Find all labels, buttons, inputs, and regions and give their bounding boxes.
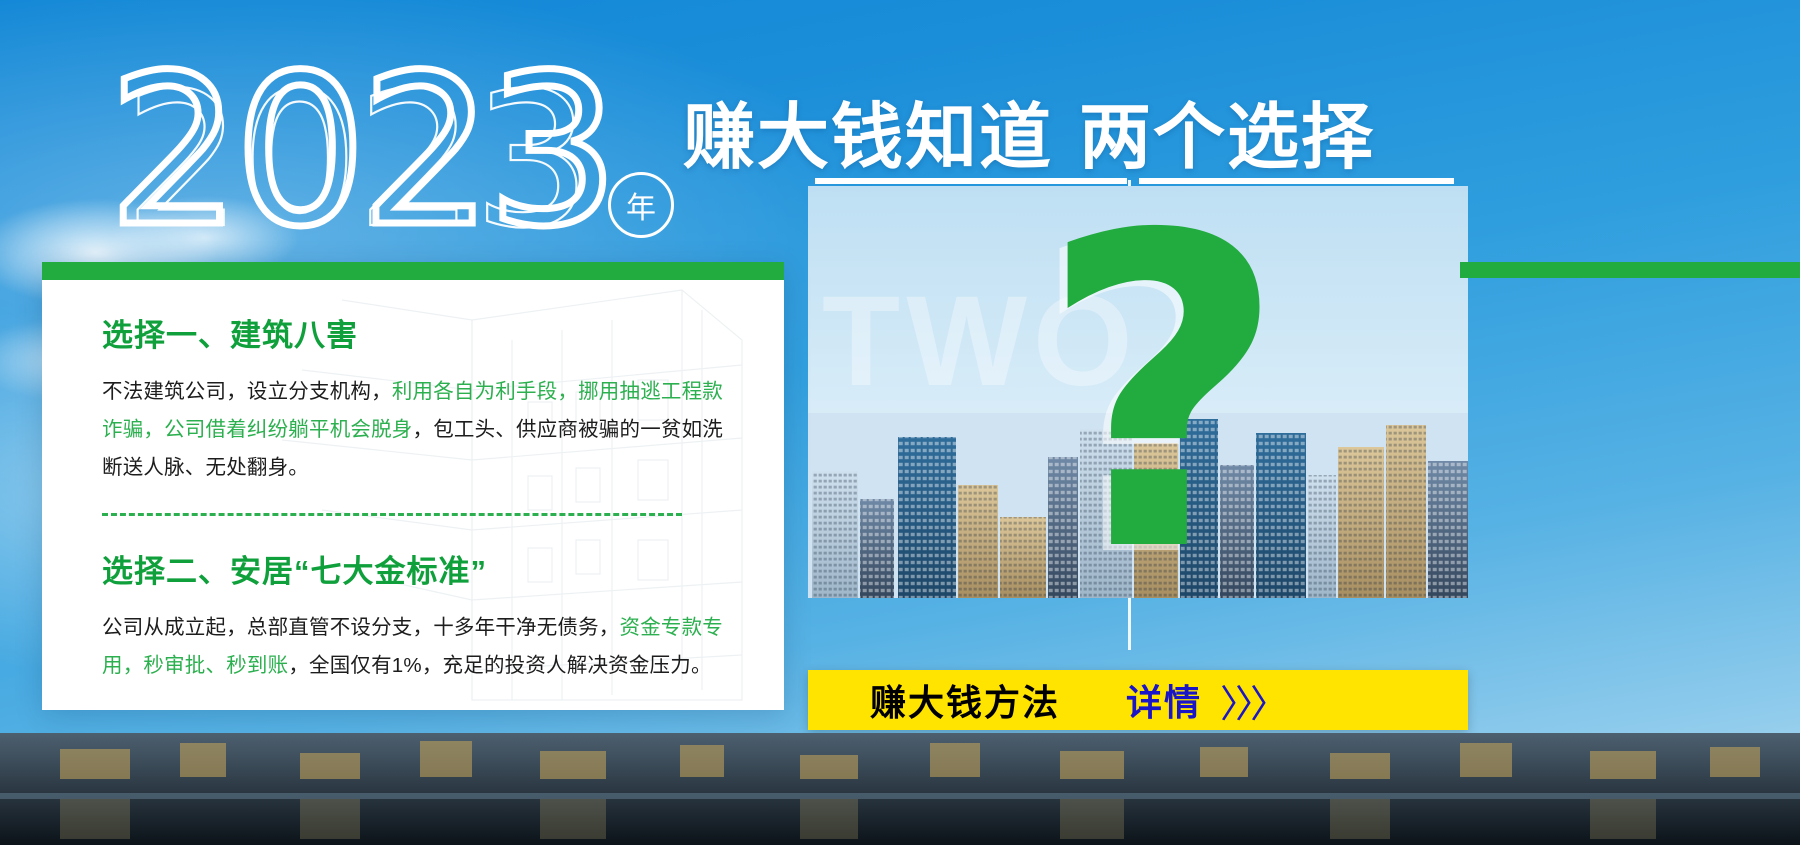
section-2-text-c: ，全国仅有1%，充足的投资人解决资金压力。 bbox=[288, 654, 711, 677]
section-divider bbox=[102, 513, 682, 516]
section-1-body: 不法建筑公司，设立分支机构，利用各自为利手段，挪用抽逃工程款诈骗，公司借着纠纷躺… bbox=[102, 373, 732, 487]
year-suffix-badge: 年 bbox=[608, 172, 674, 238]
poster-root: 2023 2023 年 赚大钱知道两个选择 TWO CHOICES bbox=[0, 0, 1800, 845]
headline-rule-left bbox=[815, 178, 1127, 184]
chevron-right-icon: 〉〉〉 bbox=[1220, 673, 1284, 728]
card-content: 选择一、建筑八害 不法建筑公司，设立分支机构，利用各自为利手段，挪用抽逃工程款诈… bbox=[102, 310, 732, 685]
bottom-photo-strip bbox=[0, 733, 1800, 845]
question-mark-icon: ? bbox=[1038, 196, 1287, 596]
card-top-accent-bar bbox=[42, 262, 784, 280]
headline-part-2: 两个选择 bbox=[1079, 98, 1375, 178]
cta-detail-label: 详情 bbox=[1126, 674, 1202, 726]
photo-panel: TWO CHOICES bbox=[808, 186, 1468, 598]
right-green-accent-bar bbox=[1460, 262, 1800, 278]
headline-part-1: 赚大钱知道 bbox=[683, 98, 1053, 178]
section-2-body: 公司从成立起，总部直管不设分支，十多年干净无债务，资金专款专用，秒审批、秒到账，… bbox=[102, 609, 732, 685]
bottom-strip-svg bbox=[0, 733, 1800, 845]
section-1-text-a: 不法建筑公司，设立分支机构， bbox=[102, 380, 392, 403]
content-card: 选择一、建筑八害 不法建筑公司，设立分支机构，利用各自为利手段，挪用抽逃工程款诈… bbox=[42, 262, 784, 710]
year-number-inline: 2023 bbox=[124, 66, 589, 256]
page-title: 赚大钱知道两个选择 bbox=[683, 78, 1375, 183]
cta-button[interactable]: 赚大钱方法 详情 〉〉〉 bbox=[808, 670, 1468, 730]
section-2-text-a: 公司从成立起，总部直管不设分支，十多年干净无债务， bbox=[102, 616, 620, 639]
section-2-title: 选择二、安居“七大金标准” bbox=[102, 546, 732, 591]
cta-main-label: 赚大钱方法 bbox=[870, 674, 1060, 726]
headline-rule-right bbox=[1139, 178, 1454, 184]
section-1-title: 选择一、建筑八害 bbox=[102, 310, 732, 355]
